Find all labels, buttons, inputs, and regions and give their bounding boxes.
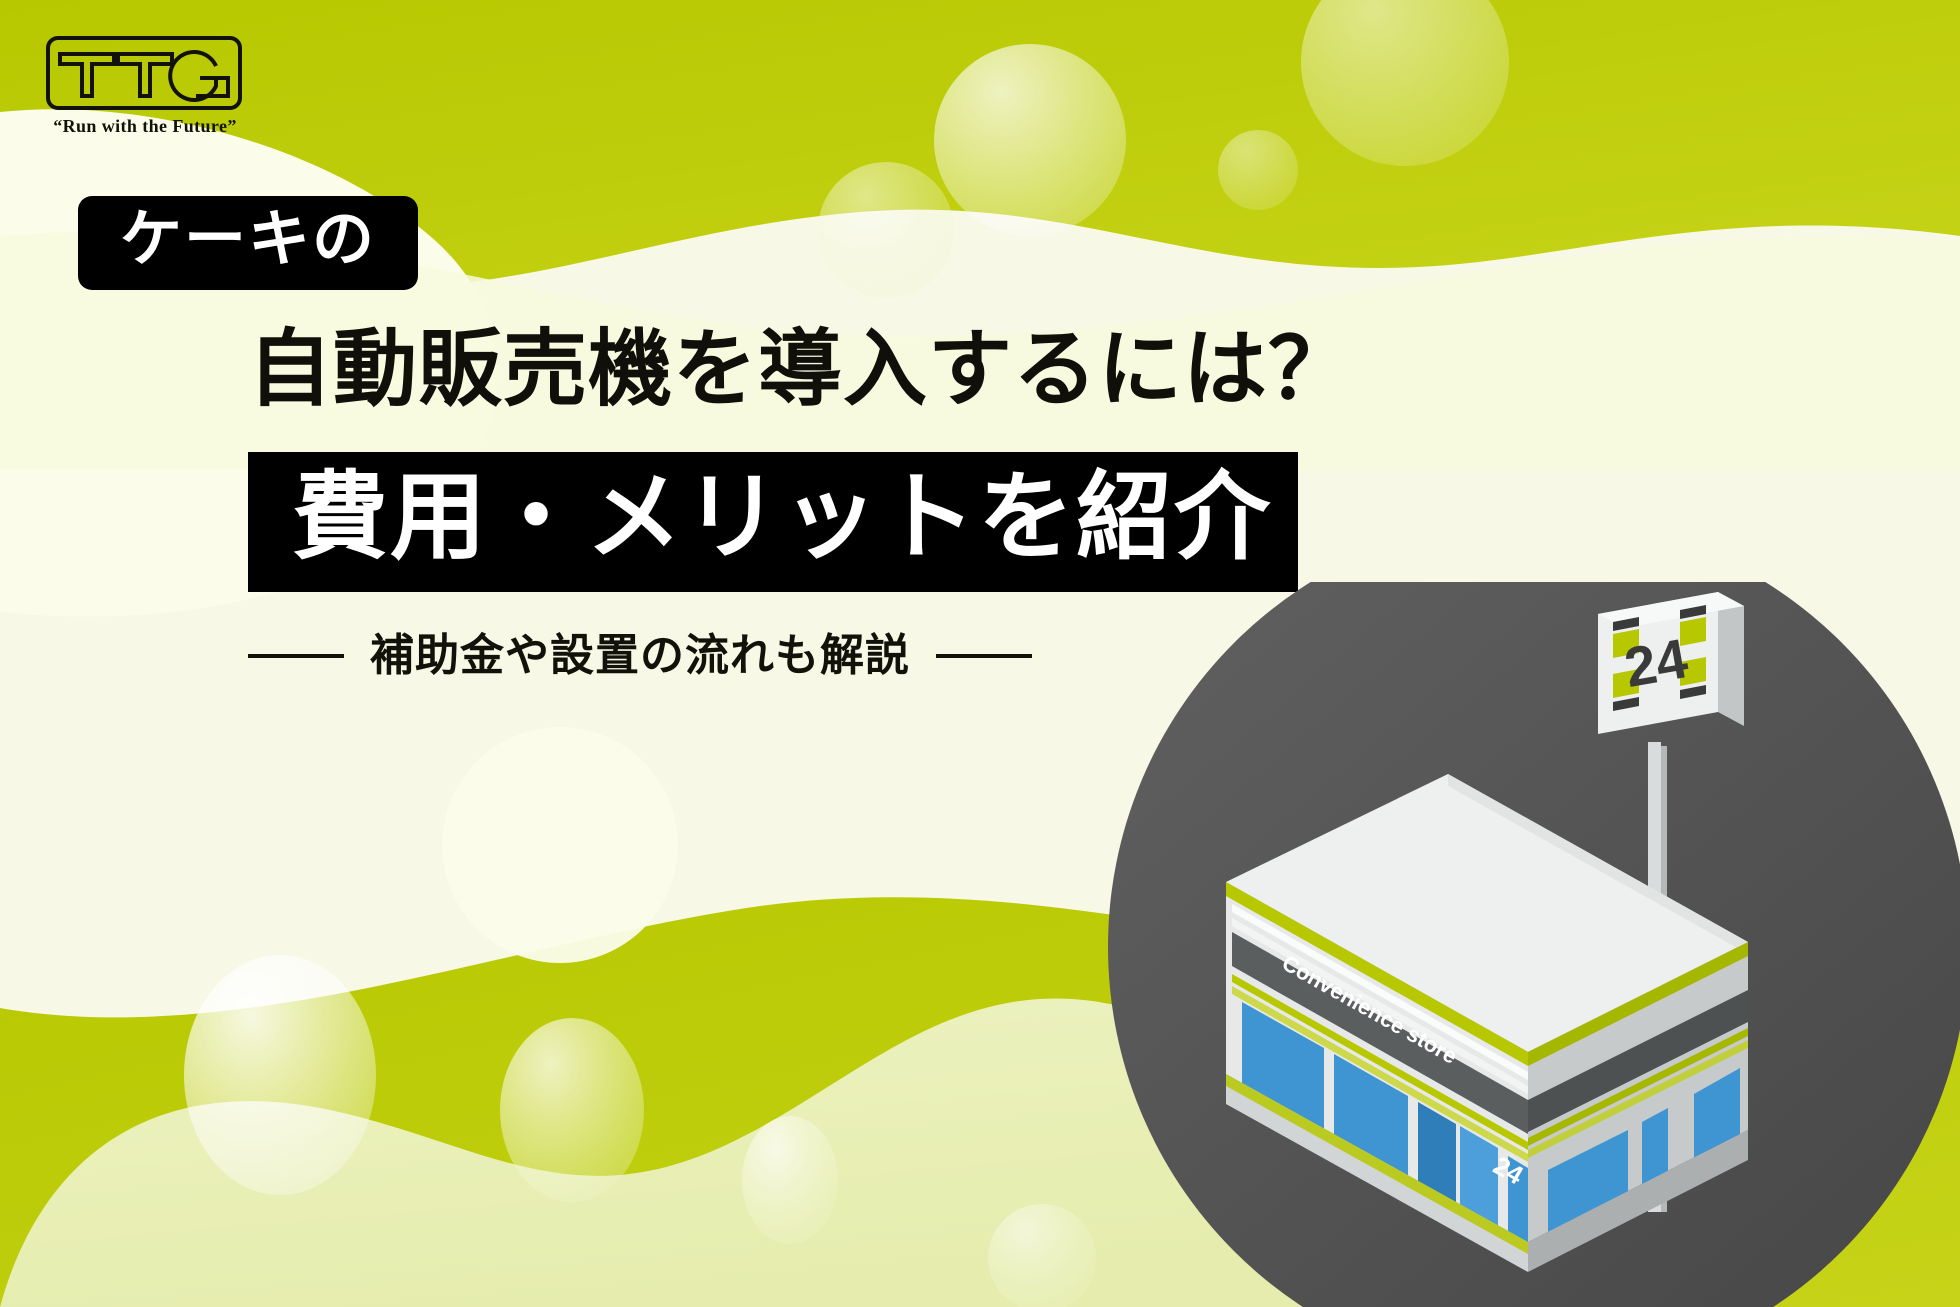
logo-tagline: “Run with the Future”	[40, 116, 250, 137]
dash-right-icon	[936, 654, 1032, 658]
page-title: 自動販売機を導入するには？	[248, 322, 1353, 416]
dash-left-icon	[248, 654, 344, 658]
subtitle-text: 補助金や設置の流れも解説	[370, 634, 910, 678]
subtitle-row: 補助金や設置の流れも解説	[248, 634, 1032, 678]
ttg-lettermark-icon	[56, 44, 232, 102]
logo-letters	[46, 36, 242, 110]
hero-banner: “Run with the Future” ケーキの 自動販売機を導入するには？…	[0, 0, 1960, 1307]
pole-sign-number: 24	[1620, 626, 1692, 699]
emphasis-bar: 費用・メリットを紹介	[248, 452, 1298, 592]
ttg-logo[interactable]: “Run with the Future”	[40, 36, 270, 146]
convenience-store-illustration: 24	[1108, 582, 1960, 1307]
kicker-badge: ケーキの	[78, 196, 418, 290]
